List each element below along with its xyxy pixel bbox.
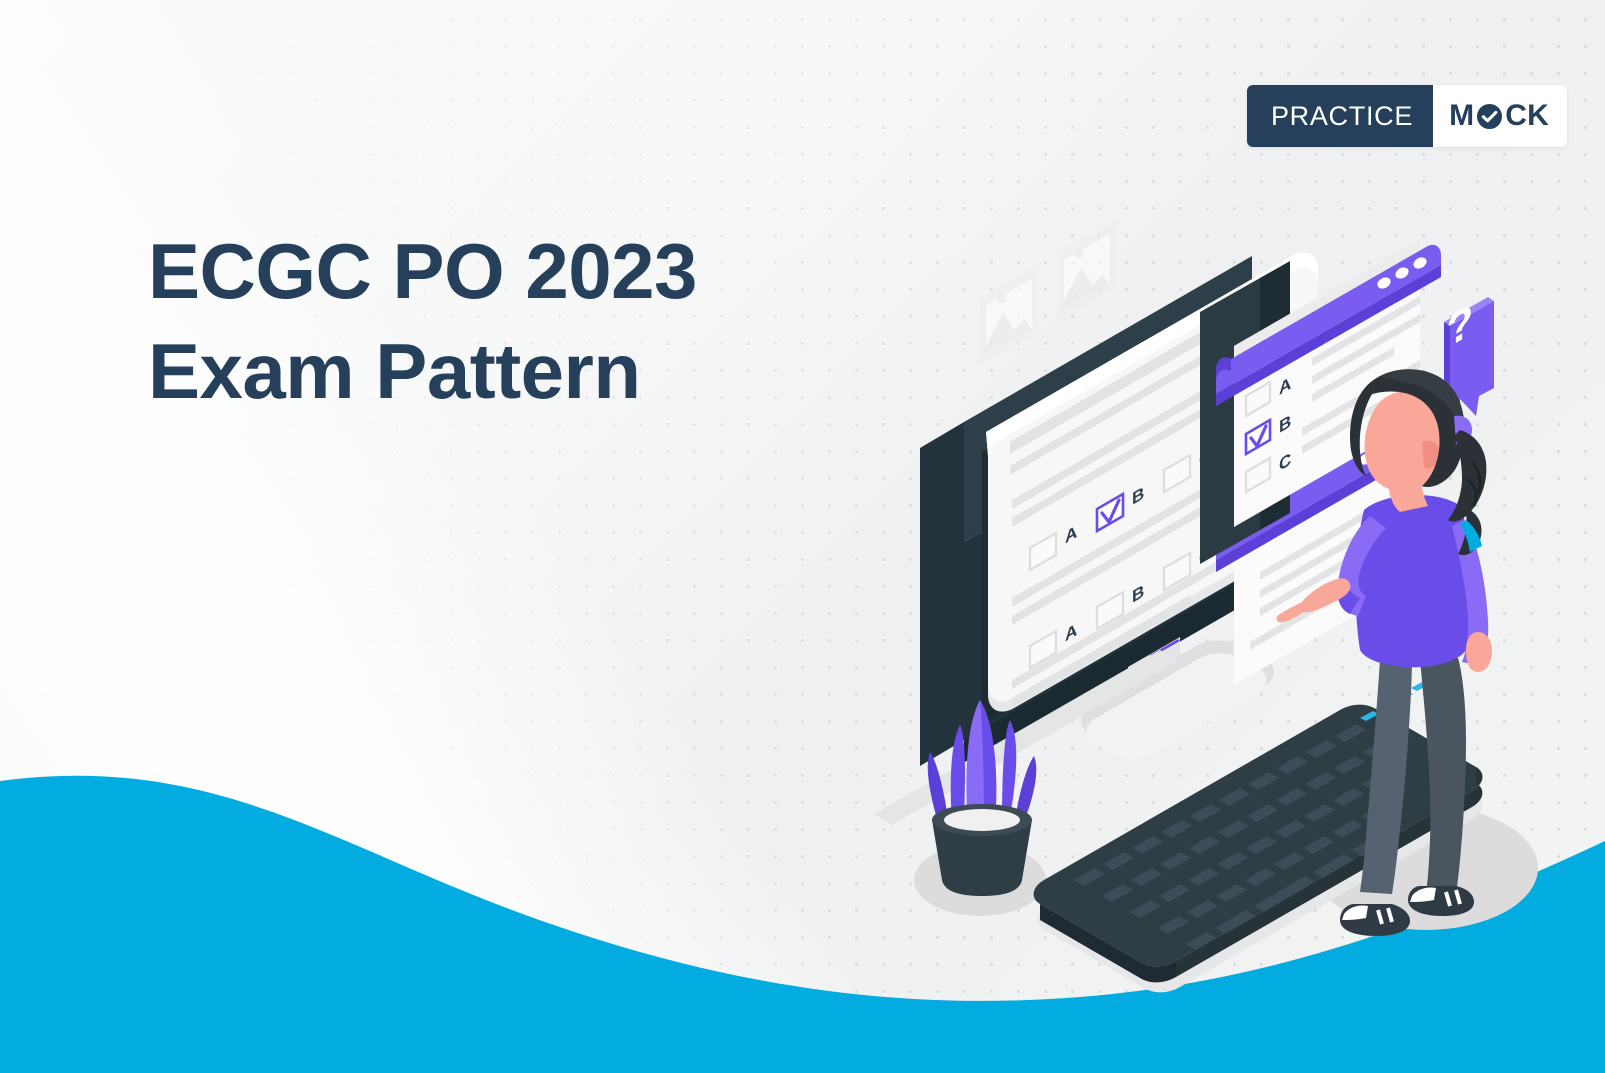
isometric-online-exam-illustration: A B C D (860, 180, 1605, 1010)
poster-canvas: PRACTICE M CK ECGC PO 2023 Exam Pattern (0, 0, 1605, 1073)
logo-mock-m: M (1449, 99, 1474, 133)
practice-mock-logo[interactable]: PRACTICE M CK (1247, 85, 1567, 147)
shoe-back (1408, 886, 1474, 916)
wall-picture-frame-2 (1058, 220, 1116, 320)
page-title-line-1: ECGC PO 2023 (148, 227, 697, 315)
page-title-line-2: Exam Pattern (148, 322, 697, 422)
check-circle-icon (1476, 103, 1503, 130)
logo-mock-ck: CK (1505, 99, 1549, 133)
page-title: ECGC PO 2023 Exam Pattern (148, 222, 697, 422)
logo-practice-text: PRACTICE (1247, 85, 1433, 147)
logo-mock-text: M CK (1433, 85, 1567, 147)
wall-picture-frame-1 (980, 265, 1038, 365)
shoe-front (1340, 904, 1410, 936)
